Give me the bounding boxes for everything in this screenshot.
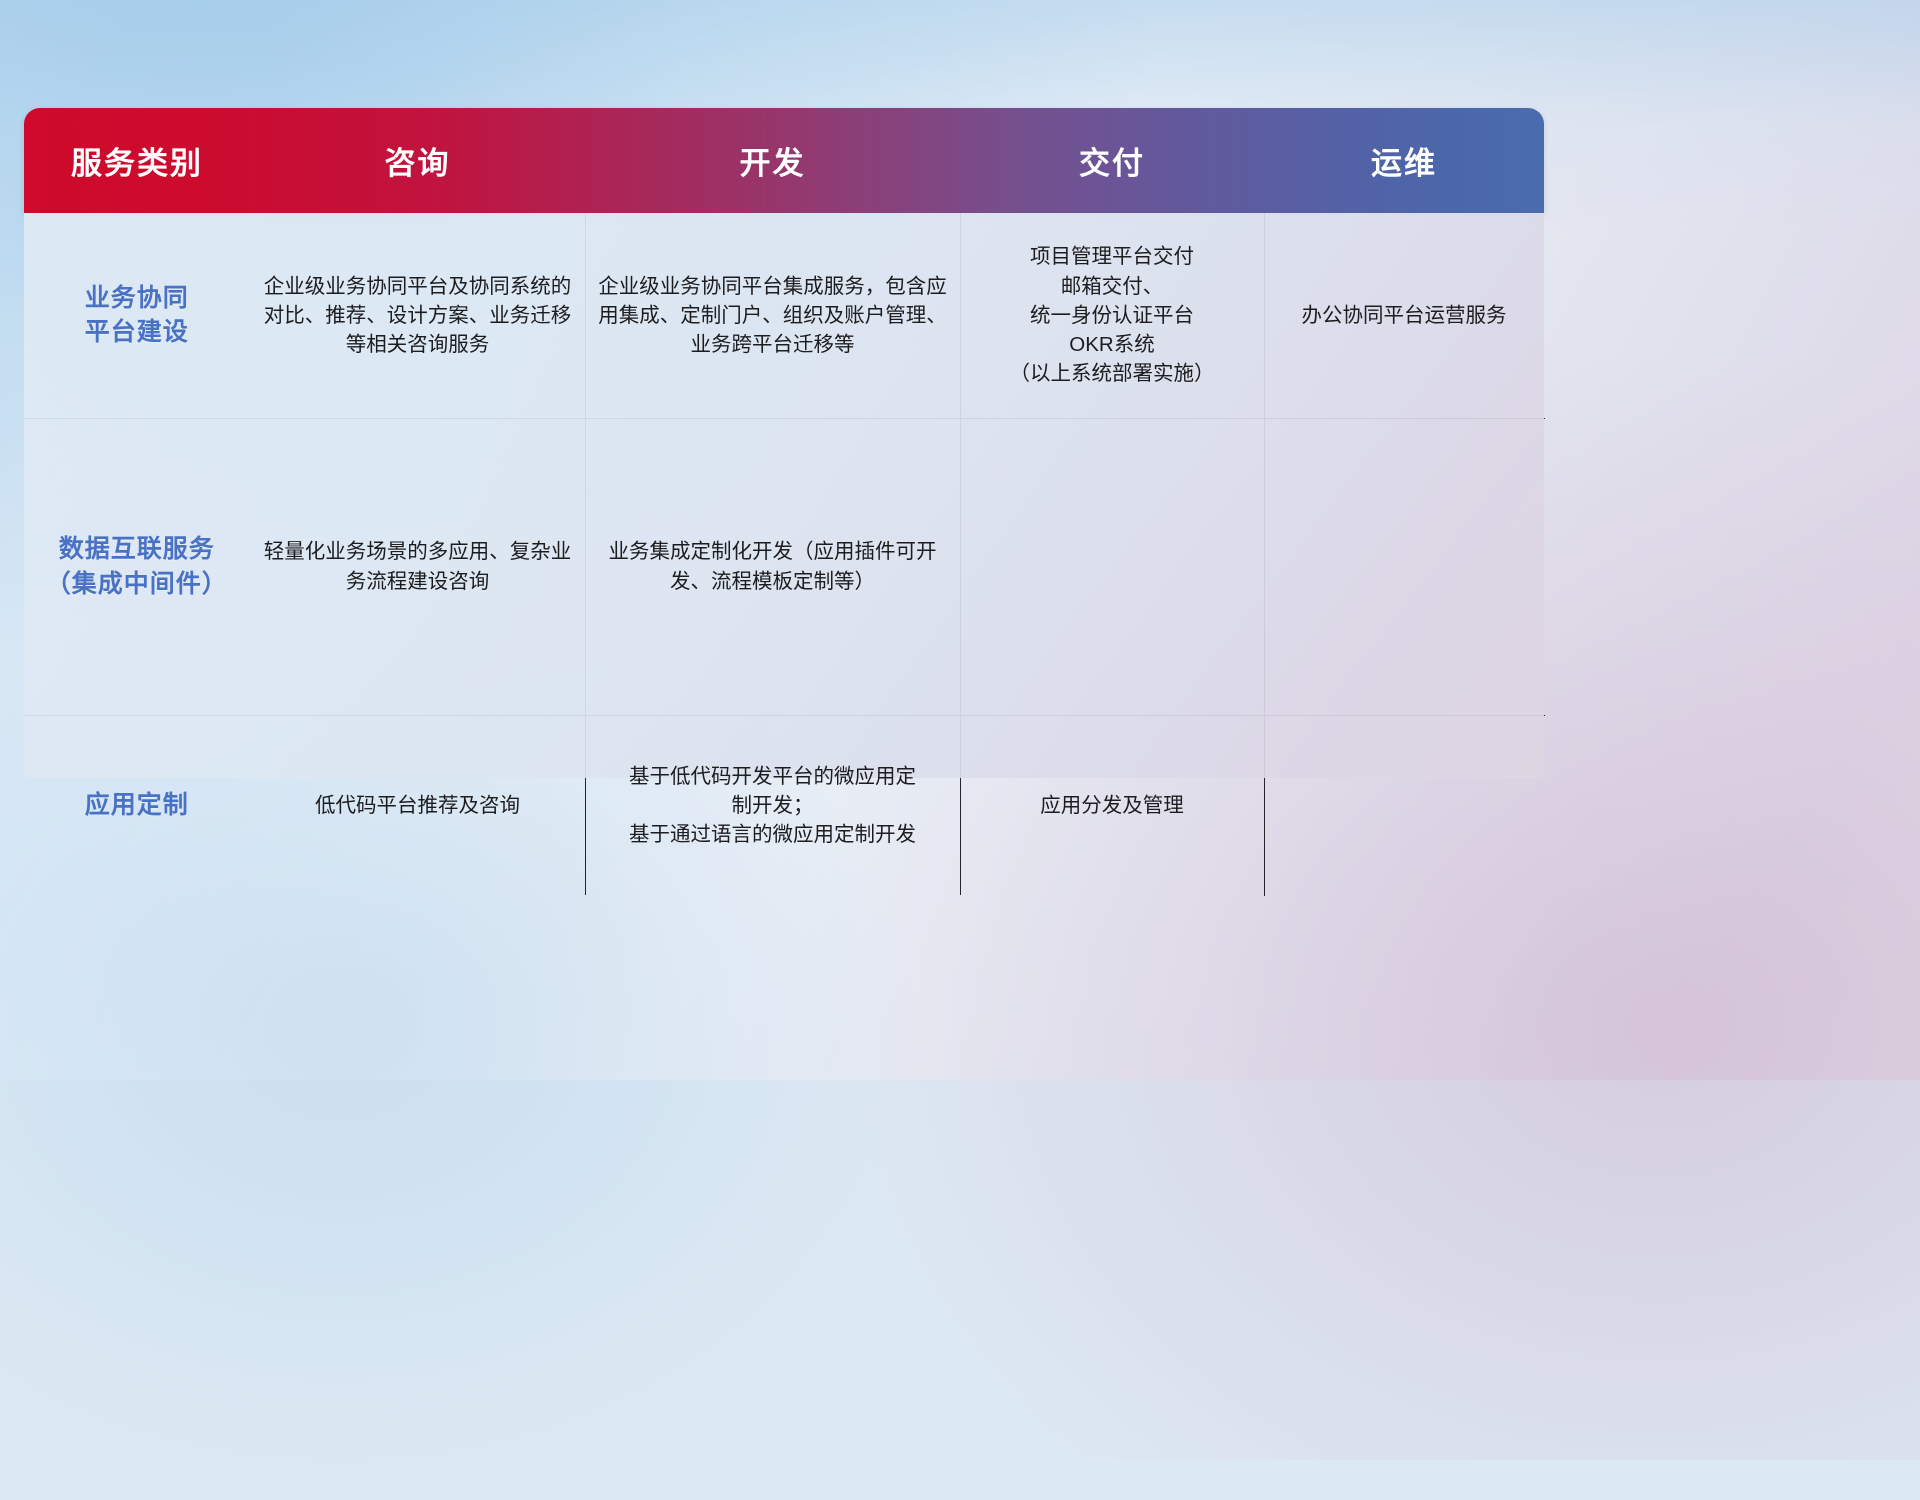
row-label-line: 平台建设 [34, 315, 240, 350]
cell-development-line: 制开发； [596, 791, 950, 820]
cell-operations-row2 [1264, 418, 1544, 715]
column-header-development[interactable]: 开发 [585, 108, 960, 213]
row-label-app-customization: 应用定制 [24, 715, 250, 895]
service-category-table: 服务类别 咨询 开发 交付 运维 业务协同 平台建设 企业级业务协同平台及协同系… [24, 108, 1545, 896]
table-row: 业务协同 平台建设 企业级业务协同平台及协同系统的对比、推荐、设计方案、业务迁移… [24, 213, 1544, 418]
header-row: 服务类别 咨询 开发 交付 运维 [24, 108, 1544, 213]
column-header-category-label: 服务类别 [71, 146, 203, 181]
column-header-operations-label: 运维 [1371, 146, 1437, 181]
cell-operations-row3 [1264, 715, 1544, 895]
row-label-business-collaboration: 业务协同 平台建设 [24, 213, 250, 418]
column-header-operations[interactable]: 运维 [1264, 108, 1544, 213]
cell-development-line: 基于低代码开发平台的微应用定 [596, 762, 950, 791]
table-row: 数据互联服务 （集成中间件） 轻量化业务场景的多应用、复杂业务流程建设咨询 业务… [24, 418, 1544, 715]
cell-development-row1: 企业级业务协同平台集成服务，包含应用集成、定制门户、组织及账户管理、业务跨平台迁… [585, 213, 960, 418]
column-header-delivery[interactable]: 交付 [960, 108, 1264, 213]
cell-consulting-row1: 企业级业务协同平台及协同系统的对比、推荐、设计方案、业务迁移等相关咨询服务 [250, 213, 585, 418]
column-header-consulting[interactable]: 咨询 [250, 108, 585, 213]
cell-development-line: 基于通过语言的微应用定制开发 [596, 820, 950, 849]
service-category-table-container: 服务类别 咨询 开发 交付 运维 业务协同 平台建设 企业级业务协同平台及协同系… [24, 108, 1544, 778]
cell-consulting-row2: 轻量化业务场景的多应用、复杂业务流程建设咨询 [250, 418, 585, 715]
cell-delivery-line: 项目管理平台交付 [971, 242, 1254, 271]
cell-development-row3: 基于低代码开发平台的微应用定 制开发； 基于通过语言的微应用定制开发 [585, 715, 960, 895]
column-header-category[interactable]: 服务类别 [24, 108, 250, 213]
column-header-consulting-label: 咨询 [385, 146, 451, 181]
cell-delivery-line: 邮箱交付、 [971, 272, 1254, 301]
cell-delivery-line: 统一身份认证平台 [971, 301, 1254, 330]
cell-development-row2: 业务集成定制化开发（应用插件可开发、流程模板定制等） [585, 418, 960, 715]
column-header-development-label: 开发 [740, 146, 806, 181]
row-label-line: 应用定制 [34, 788, 240, 823]
table-body: 业务协同 平台建设 企业级业务协同平台及协同系统的对比、推荐、设计方案、业务迁移… [24, 213, 1544, 895]
cell-delivery-row3: 应用分发及管理 [960, 715, 1264, 895]
row-label-data-interconnect: 数据互联服务 （集成中间件） [24, 418, 250, 715]
cell-delivery-line: OKR系统 [971, 330, 1254, 359]
row-label-line: 业务协同 [34, 281, 240, 316]
row-label-line: （集成中间件） [34, 567, 240, 602]
cell-operations-row1: 办公协同平台运营服务 [1264, 213, 1544, 418]
cell-consulting-row3: 低代码平台推荐及咨询 [250, 715, 585, 895]
table-head: 服务类别 咨询 开发 交付 运维 [24, 108, 1544, 213]
table-row: 应用定制 低代码平台推荐及咨询 基于低代码开发平台的微应用定 制开发； 基于通过… [24, 715, 1544, 895]
cell-delivery-row2 [960, 418, 1264, 715]
column-header-delivery-label: 交付 [1079, 146, 1145, 181]
cell-delivery-line: （以上系统部署实施） [971, 359, 1254, 388]
cell-delivery-row1: 项目管理平台交付 邮箱交付、 统一身份认证平台 OKR系统 （以上系统部署实施） [960, 213, 1264, 418]
row-label-line: 数据互联服务 [34, 532, 240, 567]
